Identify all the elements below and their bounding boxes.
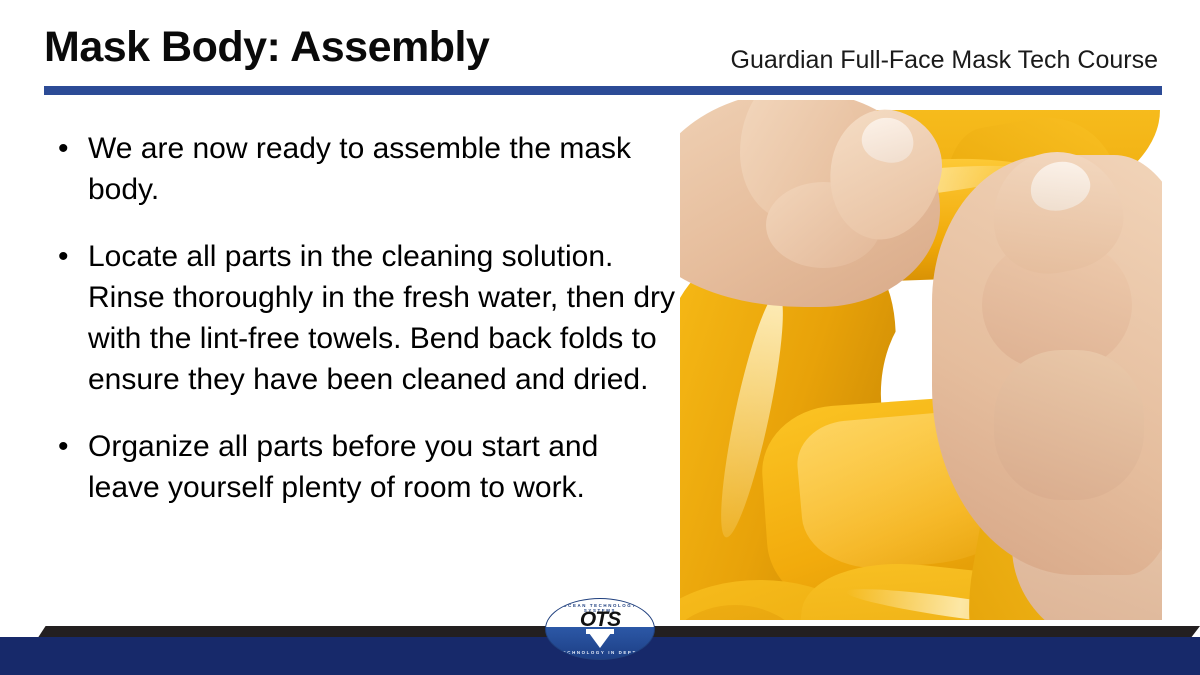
page-title: Mask Body: Assembly <box>44 26 489 69</box>
mask-assembly-photo <box>680 100 1162 620</box>
bullet-text: We are now ready to assemble the mask bo… <box>88 128 678 210</box>
slide: Mask Body: Assembly Guardian Full-Face M… <box>0 0 1200 675</box>
ots-logo: OCEAN TECHNOLOGY SYSTEMS OTS TECHNOLOGY … <box>545 598 655 660</box>
course-name: Guardian Full-Face Mask Tech Course <box>731 46 1159 75</box>
list-item: • Organize all parts before you start an… <box>58 426 678 508</box>
bullet-text: Locate all parts in the cleaning solutio… <box>88 236 678 400</box>
bullet-marker-icon: • <box>58 236 88 277</box>
list-item: • We are now ready to assemble the mask … <box>58 128 678 210</box>
list-item: • Locate all parts in the cleaning solut… <box>58 236 678 400</box>
bullet-marker-icon: • <box>58 426 88 467</box>
bullet-marker-icon: • <box>58 128 88 169</box>
logo-arc-bottom-text: TECHNOLOGY IN DEPTH <box>546 650 654 655</box>
bullet-text: Organize all parts before you start and … <box>88 426 678 508</box>
right-hand-finger-lower <box>994 350 1144 500</box>
bullet-list: • We are now ready to assemble the mask … <box>58 128 678 534</box>
title-divider <box>44 86 1162 95</box>
photo-content <box>680 100 1162 620</box>
logo-oval: OCEAN TECHNOLOGY SYSTEMS OTS TECHNOLOGY … <box>545 598 655 660</box>
logo-down-arrow-icon <box>589 633 611 648</box>
